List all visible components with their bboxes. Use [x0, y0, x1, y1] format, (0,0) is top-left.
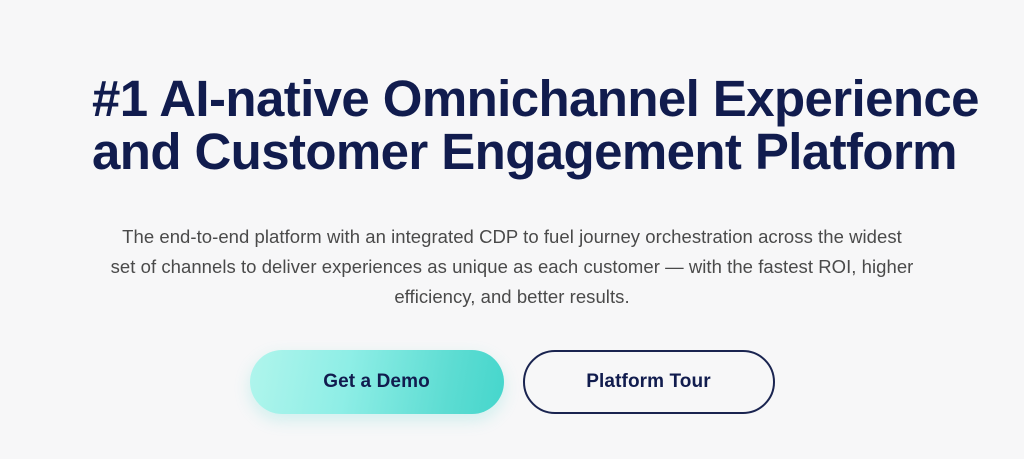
platform-tour-button[interactable]: Platform Tour: [523, 350, 775, 414]
hero-subheading-line-1: The end-to-end platform with an integrat…: [84, 222, 940, 252]
page-title-line-2: and Customer Engagement Platform: [92, 125, 932, 178]
hero-subheading: The end-to-end platform with an integrat…: [84, 222, 940, 312]
hero-section: #1 AI-native Omnichannel Experience and …: [0, 0, 1024, 459]
hero-action-buttons: Get a Demo Platform Tour: [250, 350, 775, 414]
get-a-demo-button[interactable]: Get a Demo: [250, 350, 504, 414]
page-title-line-1: #1 AI-native Omnichannel Experience: [92, 72, 932, 125]
hero-subheading-line-3: efficiency, and better results.: [84, 282, 940, 312]
hero-subheading-line-2: set of channels to deliver experiences a…: [84, 252, 940, 282]
page-title: #1 AI-native Omnichannel Experience and …: [92, 72, 932, 178]
